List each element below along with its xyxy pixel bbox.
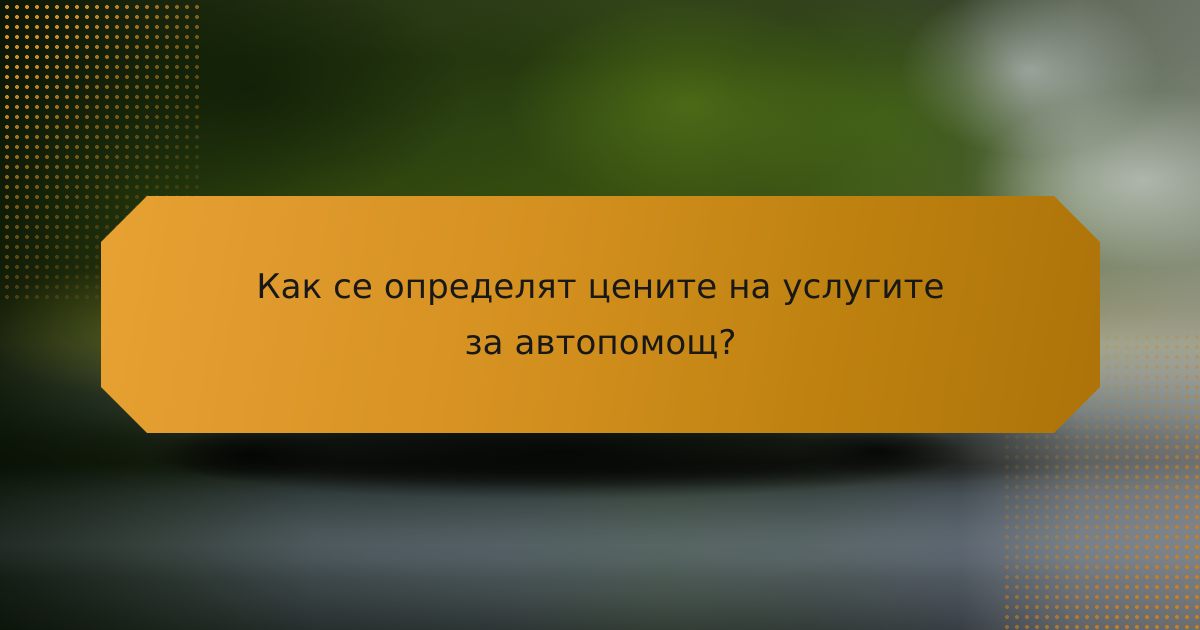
social-card-canvas: Как се определят цените на услугите за а… (0, 0, 1200, 630)
page-title: Как се определят цените на услугите за а… (241, 259, 961, 371)
title-banner: Как се определят цените на услугите за а… (101, 196, 1100, 433)
